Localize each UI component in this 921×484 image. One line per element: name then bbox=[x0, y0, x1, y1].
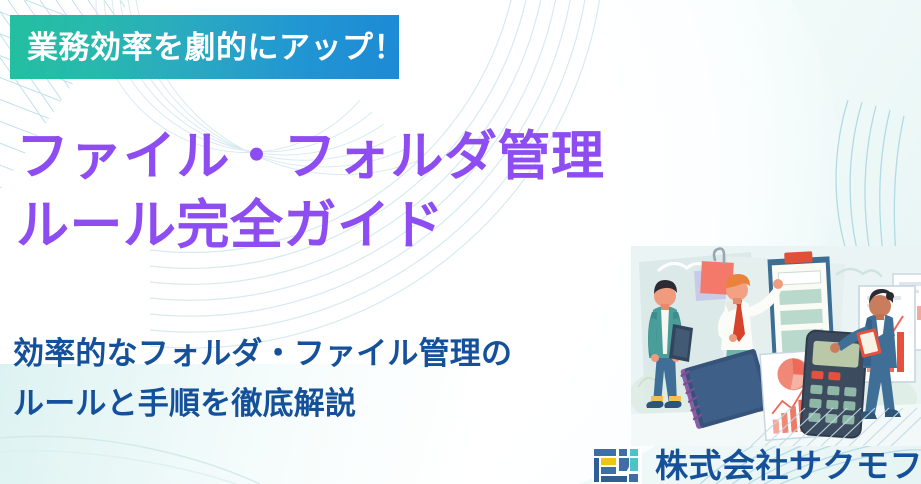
page-subtitle-line-1: 効率的なフォルダ・ファイル管理の bbox=[13, 329, 653, 379]
kicker-badge: 業務効率を劇的にアップ！ bbox=[10, 15, 399, 79]
page-title: ファイル・フォルダ管理 ルール完全ガイド bbox=[16, 123, 676, 261]
company-logo[interactable]: 株式会社サクモフ bbox=[592, 447, 921, 484]
page-title-line-2: ルール完全ガイド bbox=[16, 192, 676, 261]
company-logo-mark-icon bbox=[592, 447, 642, 484]
company-name: 株式会社サクモフ bbox=[655, 449, 921, 482]
business-team-illustration bbox=[631, 246, 921, 446]
kicker-badge-label: 業務効率を劇的にアップ！ bbox=[27, 32, 405, 63]
banner-canvas: 業務効率を劇的にアップ！ ファイル・フォルダ管理 ルール完全ガイド 効率的なフォ… bbox=[0, 0, 921, 484]
page-subtitle-line-2: ルールと手順を徹底解説 bbox=[13, 379, 653, 429]
page-subtitle: 効率的なフォルダ・ファイル管理の ルールと手順を徹底解説 bbox=[13, 329, 653, 429]
page-title-line-1: ファイル・フォルダ管理 bbox=[16, 123, 676, 192]
